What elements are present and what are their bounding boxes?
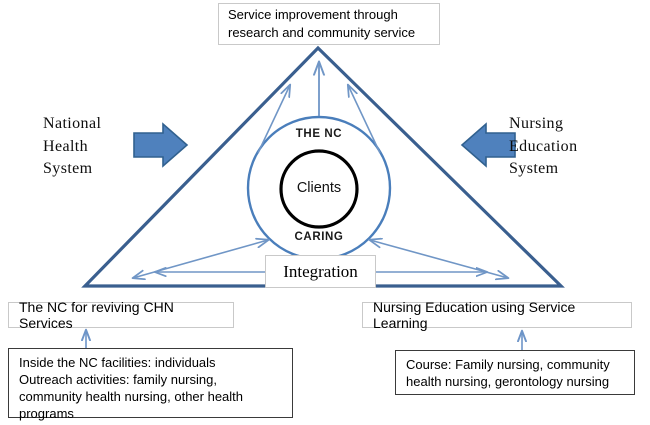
bottomright-header-text: Nursing Education using Service Learning: [373, 299, 621, 331]
bottomright-detail-text: Course: Family nursing, community health…: [406, 356, 610, 390]
bottomright-detail-box: Course: Family nursing, community health…: [395, 350, 635, 395]
bottomright-header-box: Nursing Education using Service Learning: [362, 302, 632, 328]
left-system-label: National Health System: [43, 113, 101, 181]
arrow-apex-upper-left: [258, 85, 290, 153]
triangle-outline-icon: [85, 48, 561, 286]
circle-bottom-label: CARING: [239, 231, 399, 243]
right-system-label: Nursing Education System: [509, 113, 577, 181]
integration-box-label: Integration: [283, 262, 358, 282]
clients-label: Clients: [259, 180, 379, 196]
integration-box: Integration: [265, 255, 376, 288]
title-box-text: Service improvement through research and…: [228, 6, 415, 43]
arrow-apex-upper-right: [348, 85, 380, 153]
bottomleft-detail-box: Inside the NC facilities: individuals Ou…: [8, 348, 293, 418]
bottomleft-detail-text: Inside the NC facilities: individuals Ou…: [19, 354, 243, 423]
title-box: Service improvement through research and…: [218, 3, 440, 45]
arrow-circle-to-bottom-right: [370, 240, 508, 278]
circle-top-label: THE NC: [239, 128, 399, 140]
diagram-canvas: Service improvement through research and…: [0, 0, 650, 425]
bottomleft-header-text: The NC for reviving CHN Services: [19, 299, 223, 331]
bottomleft-header-box: The NC for reviving CHN Services: [8, 302, 234, 328]
right-block-arrow-icon: [134, 124, 187, 166]
left-block-arrow-icon: [462, 124, 515, 166]
arrow-circle-to-bottom-left: [133, 240, 268, 278]
